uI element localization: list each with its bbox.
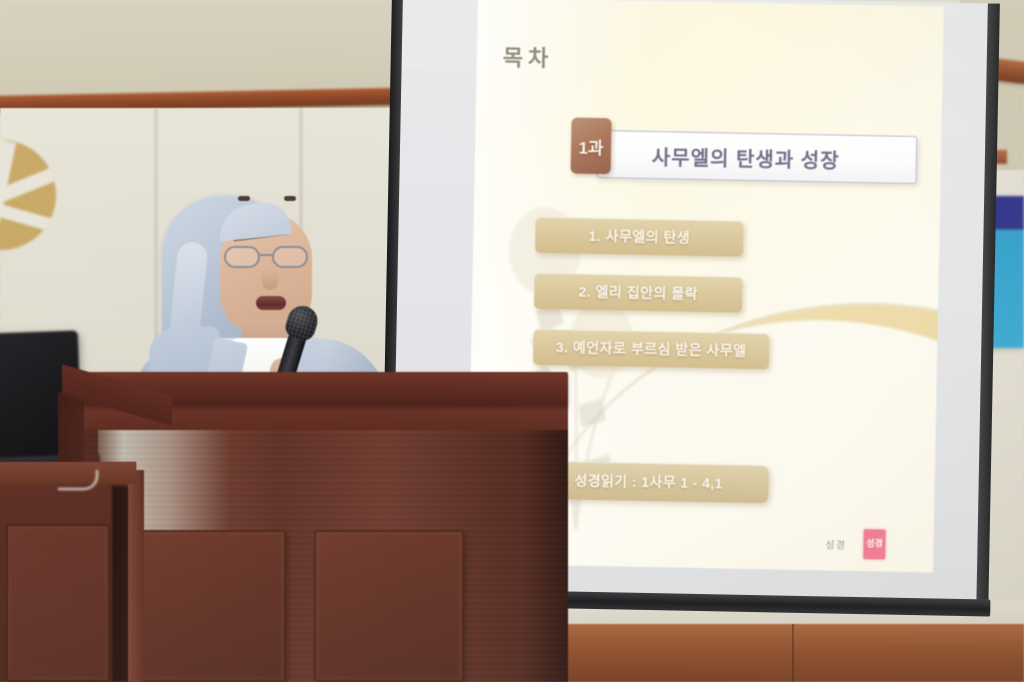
side-desk-edge [128,470,144,682]
mouth [256,296,286,310]
slide-item: 3. 예언자로 부르심 받은 사무엘 [533,329,770,370]
lesson-number-badge: 1과 [571,117,612,174]
slide-item: 1. 사무엘의 탄생 [535,217,744,257]
slide-footer-seal: 성경 성경 [825,528,900,563]
slide-item: 2. 엘리 집안의 몰락 [534,273,743,313]
side-desk-panel [6,524,110,682]
red-seal-icon: 성경 [863,529,886,559]
eye-left [238,196,250,201]
eye-right [284,196,296,201]
speaker-person [146,188,376,403]
podium-panel [136,530,286,682]
glasses-icon [224,246,316,272]
podium-panel [314,530,464,682]
slide-title-row: 사무엘의 탄생과 성장 1과 [570,117,917,188]
slide-footer-text: 성경 [825,536,846,551]
slide-heading: 목차 [502,40,553,73]
power-cable [58,470,98,490]
podium [84,372,568,682]
photo-scene: 목차 사무엘의 탄생과 성장 1과 1. 사무엘의 탄생 2. 엘리 집안의 몰… [0,0,1024,682]
podium-shadow [524,428,568,682]
slide-title: 사무엘의 탄생과 성장 [596,130,917,184]
nose [262,270,278,290]
